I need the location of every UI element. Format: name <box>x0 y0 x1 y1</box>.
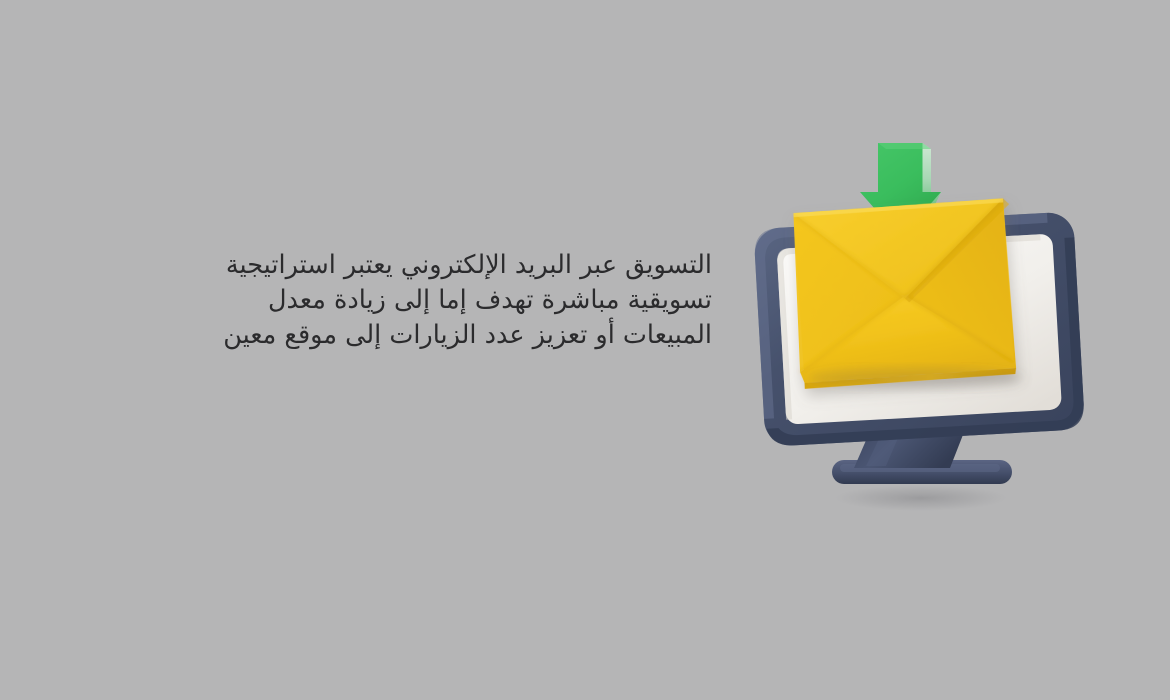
ground-shadow <box>835 485 1007 511</box>
headline-line-2: تسويقية مباشرة تهدف إما إلى زيادة معدل <box>212 283 712 318</box>
headline-line-1: التسويق عبر البريد الإلكتروني يعتبر استر… <box>212 248 712 283</box>
headline-line-3: المبيعات أو تعزيز عدد الزيارات إلى موقع … <box>212 318 712 353</box>
screenshot-canvas: التسويق عبر البريد الإلكتروني يعتبر استر… <box>0 0 1170 700</box>
headline-text-block: التسويق عبر البريد الإلكتروني يعتبر استر… <box>212 248 712 353</box>
email-marketing-illustration <box>736 120 1096 520</box>
envelope-contact-shadow <box>808 368 1024 388</box>
arrow-top-cap <box>878 143 931 149</box>
yellow-envelope <box>793 198 1016 389</box>
